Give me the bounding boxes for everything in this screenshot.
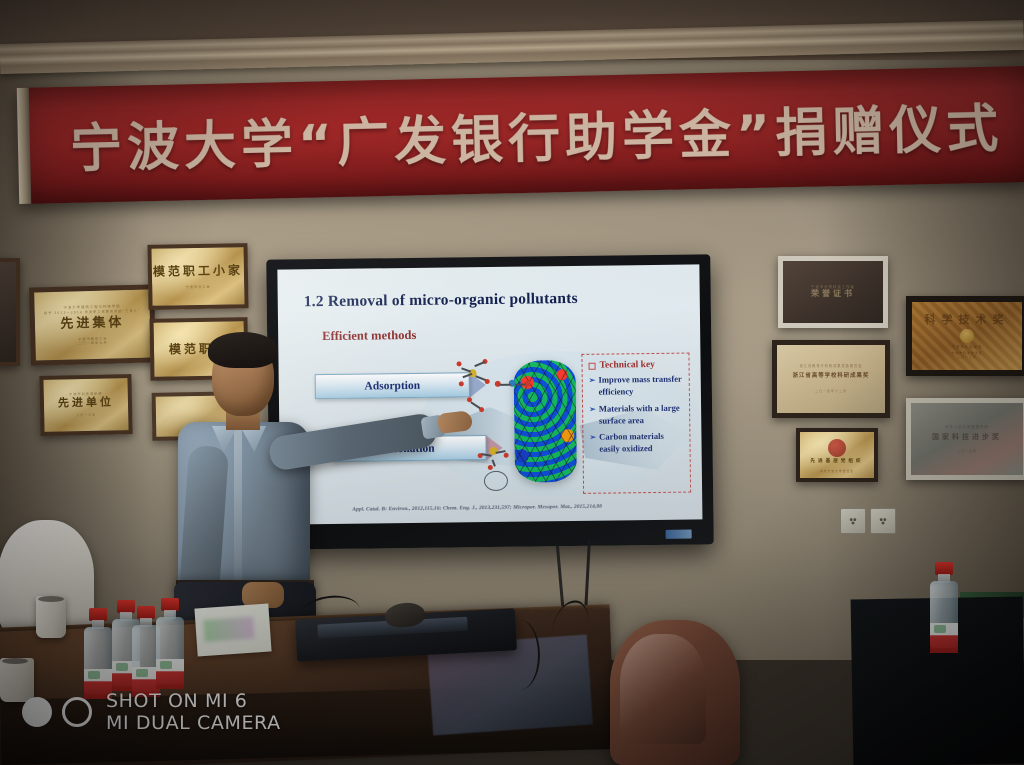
national-emblem-icon — [960, 329, 974, 343]
banner-rod — [17, 88, 32, 204]
plaque-main-text: 先进单位 — [58, 396, 114, 411]
technical-key-heading: Technical key — [589, 360, 684, 371]
display-brand-badge — [666, 530, 692, 539]
camera-ring-icon — [62, 697, 92, 727]
wall-outlet-left[interactable] — [840, 508, 866, 534]
photograph: 宁波大学“广发银行助学金”捐赠仪式 宁波大学建筑工程与环境学院 授予 2013—… — [0, 0, 1024, 765]
wall-outlet-right[interactable] — [870, 508, 896, 534]
plaque-foot-text: 二〇一三年 — [76, 414, 96, 418]
bottle-label — [156, 659, 184, 689]
leather-chair[interactable] — [610, 620, 740, 765]
technical-key-item-text: Materials with a large surface area — [599, 402, 685, 427]
arrow-bullet-icon: ➢ — [589, 375, 596, 387]
plaque-top-text: 浙江省教育厅科研成果奖励委员会 — [800, 364, 863, 368]
plaque-right-2: 浙江省教育厅科研成果奖励委员会 浙江省高等学校科研成果奖 二〇一四年十二月 — [772, 340, 890, 418]
camera-watermark: SHOT ON MI 6 MI DUAL CAMERA — [22, 690, 281, 735]
plaque-main-text: 模范职工小家 — [153, 263, 243, 280]
water-bottle-4[interactable] — [156, 598, 184, 684]
filled-circle-icon — [22, 697, 52, 727]
arrow-bullet-icon: ➢ — [589, 432, 596, 444]
plaque-left-3: 模范职工小家 宁波市总工会 — [147, 243, 248, 310]
plaque-foot-text: 二〇一四年十二月 — [815, 390, 847, 394]
water-bottle-5[interactable] — [930, 562, 958, 648]
plaque-foot-text: 宁波市总工会 — [186, 285, 211, 289]
plaque-main-text: 先进基层党组织 — [810, 459, 863, 465]
plaque-foot-text: 宁波市科学技术奖 二〇一三年 — [951, 352, 982, 359]
technical-key-heading-text: Technical key — [600, 360, 655, 371]
shirt-placket — [234, 430, 242, 580]
technical-key-item-text: Improve mass transfer efficiency — [598, 374, 684, 399]
plaque-left-1: 宁波大学建筑工程与环境学院 授予 2013—2014 年度职工资教育系统“三育人… — [29, 284, 156, 365]
technical-key-panel: Technical key ➢ Improve mass transfer ef… — [581, 353, 691, 494]
technical-key-item-text: Carbon materials easily oxidized — [599, 431, 685, 456]
bottle-body — [930, 581, 958, 648]
presenter-hair — [208, 332, 278, 368]
laptop-cable-2 — [500, 620, 540, 690]
plaque-main-text: 荣誉证书 — [811, 289, 855, 299]
plaque-foot-text: 宁波市教育工会 二〇一四年九月 — [78, 336, 108, 345]
technical-key-item: ➢ Carbon materials easily oxidized — [589, 431, 684, 456]
watermark-line-1: SHOT ON MI 6 — [106, 690, 281, 712]
paper-card — [194, 603, 271, 656]
presenter-pointing-arm — [267, 412, 438, 472]
plaque-top-text: 宁波市科技进步奖 — [69, 392, 103, 397]
square-bullet-icon — [589, 362, 596, 369]
banner-text: 宁波大学“广发银行助学金”捐赠仪式 — [69, 79, 1024, 186]
plaque-top-text: 宁波市人民政府 — [952, 345, 983, 349]
bottle-body — [156, 617, 184, 684]
plaque-foot-text: 二〇一五年 — [957, 450, 977, 454]
bottle-body — [84, 627, 112, 694]
plaque-main-text: 先进集体 — [60, 315, 124, 333]
plaque-top-text: 中华人民共和国国务院 — [945, 425, 989, 429]
plaque-foot-text: 中共宁波大学委员会 — [820, 470, 854, 473]
plaque-left-2: 宁波市科技进步奖 先进单位 二〇一三年 — [39, 374, 132, 436]
technical-key-item: ➢ Materials with a large surface area — [589, 402, 684, 427]
plaque-right-4: 科学技术奖 宁波市人民政府 宁波市科学技术奖 二〇一三年 — [906, 296, 1024, 376]
molecule-top-left — [456, 359, 490, 389]
bottle-label — [930, 623, 958, 653]
party-emblem-icon — [828, 439, 846, 457]
plaque-right-5: 中华人民共和国国务院 国家科技进步奖 二〇一五年 — [906, 398, 1024, 480]
plaque-left-edge — [0, 258, 20, 366]
plaque-right-1: 宁波市优秀科技工作者 荣誉证书 — [778, 256, 888, 328]
plaque-main-text: 浙江省高等学校科研成果奖 — [793, 373, 870, 380]
technical-key-item: ➢ Improve mass transfer efficiency — [589, 374, 684, 399]
plaque-sub-text: 授予 2013—2014 年度职工资教育系统“三育人” — [44, 308, 140, 315]
arrow-bullet-icon: ➢ — [589, 403, 596, 415]
watermark-text: SHOT ON MI 6 MI DUAL CAMERA — [106, 690, 281, 735]
watermark-line-2: MI DUAL CAMERA — [106, 712, 281, 734]
ceremony-banner: 宁波大学“广发银行助学金”捐赠仪式 — [17, 66, 1024, 204]
plaque-main-text: 科学技术奖 — [925, 313, 1010, 327]
molecule-chain — [495, 378, 535, 390]
plaque-main-text: 国家科技进步奖 — [932, 433, 1002, 442]
molecule-bottom-ring — [474, 447, 519, 494]
paper-cup-1[interactable] — [36, 596, 66, 638]
plaque-right-3: 先进基层党组织 中共宁波大学委员会 — [796, 428, 878, 482]
slide-title: 1.2 Removal of micro-organic pollutants — [304, 290, 578, 311]
water-bottle-1[interactable] — [84, 608, 112, 694]
molecule-small-left — [467, 397, 489, 415]
